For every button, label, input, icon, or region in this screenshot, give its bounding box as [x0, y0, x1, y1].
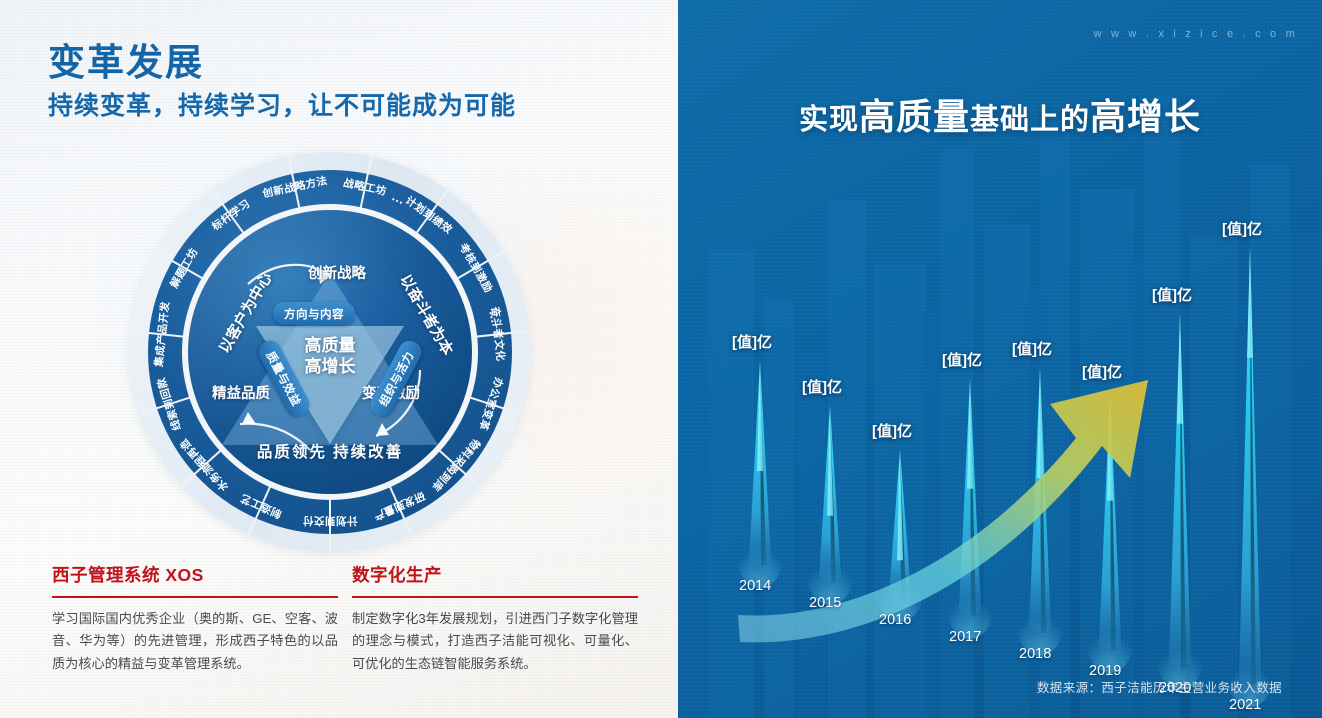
- data-label-2019: [值]亿: [1082, 361, 1122, 382]
- data-label-2015: [值]亿: [802, 376, 842, 397]
- column-xos-body: 学习国际国内优秀企业（奥的斯、GE、空客、波音、华为等）的先进管理，形成西子特色…: [52, 608, 338, 676]
- core-center-line-1: 高质量: [305, 336, 356, 357]
- core-center-text: 高质量 高增长: [305, 336, 356, 377]
- category-label-2018: 2018: [1019, 646, 1051, 662]
- column-digital-body: 制定数字化3年发展规划，引进西门子数字化管理的理念与模式，打造西子洁能可视化、可…: [352, 608, 638, 676]
- ring-label-text: 计划到交付: [303, 514, 358, 529]
- core-corner-quality: 精益品质: [212, 382, 270, 403]
- core-center-line-2: 高增长: [305, 357, 356, 378]
- data-label-2014: [值]亿: [732, 331, 772, 352]
- column-xos-heading: 西子管理系统 XOS: [52, 562, 338, 587]
- core-corner-innovation: 创新战略: [308, 262, 366, 283]
- category-label-2014: 2014: [739, 578, 771, 594]
- trend-arrow: [738, 380, 1148, 642]
- column-xos-rule: [52, 596, 338, 598]
- column-digital: 数字化生产 制定数字化3年发展规划，引进西门子数字化管理的理念与模式，打造西子洁…: [352, 562, 638, 676]
- cone-tip-highlight: [1247, 248, 1253, 358]
- xos-circular-diagram: 创新战略方法战略工坊计划到绩效考核到激励奋斗者文化办公室变革物料采购到库研发到量…: [130, 152, 530, 552]
- column-digital-rule: [352, 596, 638, 598]
- column-digital-heading: 数字化生产: [352, 562, 638, 587]
- pill-direction-content: 方向与内容: [273, 302, 355, 325]
- category-label-2017: 2017: [949, 629, 981, 645]
- core-bottom-slogan: 品质领先 持续改善: [257, 440, 403, 462]
- left-panel: 变革发展 持续变革，持续学习，让不可能成为可能 创新战略方法战略工坊计划到绩效考…: [0, 0, 678, 718]
- category-label-2021: 2021: [1229, 697, 1261, 713]
- data-label-2021: [值]亿: [1222, 218, 1262, 239]
- page-title: 变革发展: [48, 32, 204, 86]
- slide-canvas: 变革发展 持续变革，持续学习，让不可能成为可能 创新战略方法战略工坊计划到绩效考…: [0, 0, 1322, 718]
- data-label-2020: [值]亿: [1152, 284, 1192, 305]
- data-label-2017: [值]亿: [942, 349, 982, 370]
- cone-tip-highlight: [1177, 314, 1183, 424]
- category-label-2016: 2016: [879, 612, 911, 628]
- ring-ellipsis-1: …: [487, 308, 505, 325]
- right-panel: w w w . x i z i c e . c o m 实现高质量基础上的高增长: [678, 0, 1322, 718]
- category-label-2015: 2015: [809, 595, 841, 611]
- page-subtitle: 持续变革，持续学习，让不可能成为可能: [48, 86, 516, 122]
- column-xos: 西子管理系统 XOS 学习国际国内优秀企业（奥的斯、GE、空客、波音、华为等）的…: [52, 562, 338, 676]
- data-label-2016: [值]亿: [872, 420, 912, 441]
- data-label-2018: [值]亿: [1012, 338, 1052, 359]
- revenue-cone-chart: [678, 0, 1322, 718]
- chart-source-note: 数据来源：西子洁能历年主营业务收入数据: [1037, 677, 1282, 696]
